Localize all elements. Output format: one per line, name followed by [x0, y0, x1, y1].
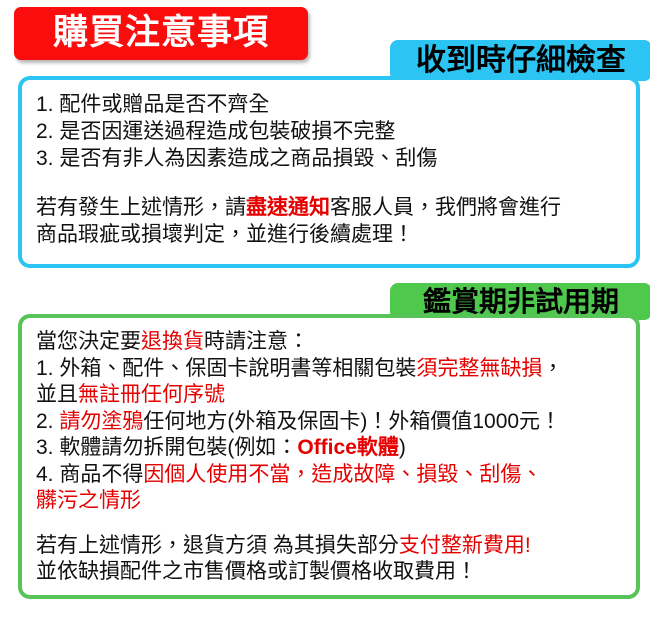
list-item-continuation: 髒污之情形 [36, 488, 622, 515]
list-item-highlight: 因個人使用不當，造成故障、損毀、刮傷、 [143, 463, 542, 486]
list-item: 2. 請勿塗鴉任何地方(外箱及保固卡)！外箱價值1000元！ [36, 409, 622, 436]
panel-inspect-content: 1. 配件或贈品是否不齊全 2. 是否因運送過程造成包裝破損不完整 3. 是否有… [22, 80, 636, 248]
content-spacer [36, 515, 622, 533]
list-item: 3. 是否有非人為因素造成之商品損毀、刮傷 [36, 145, 622, 172]
return-intro-before: 當您決定要 [36, 330, 141, 353]
inspect-note-text-after: 客服人員，我們將會進行 [330, 196, 561, 219]
list-item-highlight: 無註冊任何序號 [78, 383, 225, 406]
list-item-text-tail: ) [399, 436, 406, 459]
list-item: 4. 商品不得因個人使用不當，造成故障、損毀、刮傷、 [36, 462, 622, 489]
list-item-highlight: 請勿塗鴉 [59, 410, 143, 433]
return-intro-highlight: 退換貨 [141, 330, 204, 353]
inspect-note-line-1: 若有發生上述情形，請盡速通知客服人員，我們將會進行 [36, 194, 622, 221]
return-intro-after: 時請注意： [204, 330, 309, 353]
list-item-number: 4. [36, 463, 54, 486]
list-item-number: 2. [36, 120, 54, 143]
list-item-text: 是否因運送過程造成包裝破損不完整 [59, 120, 395, 143]
list-item-text: 商品不得 [59, 463, 143, 486]
list-item: 2. 是否因運送過程造成包裝破損不完整 [36, 118, 622, 145]
list-item-text: 任何地方(外箱及保固卡)！外箱價值1000元！ [143, 410, 561, 433]
panel-return: 當您決定要退換貨時請注意： 1. 外箱、配件、保固卡說明書等相關包裝須完整無缺損… [18, 314, 640, 599]
list-item-text: 軟體請勿拆開包裝(例如： [59, 436, 297, 459]
list-item-number: 1. [36, 93, 54, 116]
return-footer-highlight: 支付整新費用! [399, 534, 531, 557]
list-item-highlight: 須完整無缺損 [416, 357, 542, 380]
section-tab-return-label: 鑑賞期非試用期 [423, 288, 619, 316]
return-footer-line-2: 並依缺損配件之市售價格或訂製價格收取費用！ [36, 559, 622, 586]
list-item-number: 1. [36, 357, 54, 380]
list-item-text: 外箱、配件、保固卡說明書等相關包裝 [59, 357, 416, 380]
return-footer-text: 若有上述情形，退貨方須 為其損失部分 [36, 534, 399, 557]
list-item-number: 3. [36, 147, 54, 170]
page-title: 購買注意事項 [53, 15, 269, 50]
content-spacer [36, 172, 622, 194]
section-tab-inspect-label: 收到時仔細檢查 [416, 46, 626, 76]
panel-inspect: 1. 配件或贈品是否不齊全 2. 是否因運送過程造成包裝破損不完整 3. 是否有… [18, 76, 640, 268]
list-item: 1. 外箱、配件、保固卡說明書等相關包裝須完整無缺損， [36, 356, 622, 383]
list-item-text-tail: ， [542, 357, 563, 380]
inspect-note-highlight: 盡速通知 [246, 196, 330, 219]
list-item-continuation: 並且無註冊任何序號 [36, 382, 622, 409]
list-item-text: 配件或贈品是否不齊全 [59, 93, 269, 116]
inspect-note-line-2: 商品瑕疵或損壞判定，並進行後續處理！ [36, 221, 622, 248]
list-item-number: 2. [36, 410, 54, 433]
list-item: 3. 軟體請勿拆開包裝(例如：Office軟體) [36, 435, 622, 462]
list-item-text: 並且 [36, 383, 78, 406]
page-title-banner: 購買注意事項 [14, 7, 308, 60]
return-footer-line-1: 若有上述情形，退貨方須 為其損失部分支付整新費用! [36, 533, 622, 560]
list-item: 1. 配件或贈品是否不齊全 [36, 91, 622, 118]
return-intro: 當您決定要退換貨時請注意： [36, 329, 622, 356]
list-item-text: 是否有非人為因素造成之商品損毀、刮傷 [59, 147, 437, 170]
list-item-number: 3. [36, 436, 54, 459]
inspect-note-text-before: 若有發生上述情形，請 [36, 196, 246, 219]
list-item-highlight: Office軟體 [297, 436, 399, 459]
section-tab-inspect: 收到時仔細檢查 [390, 40, 650, 81]
panel-return-content: 當您決定要退換貨時請注意： 1. 外箱、配件、保固卡說明書等相關包裝須完整無缺損… [22, 318, 636, 586]
